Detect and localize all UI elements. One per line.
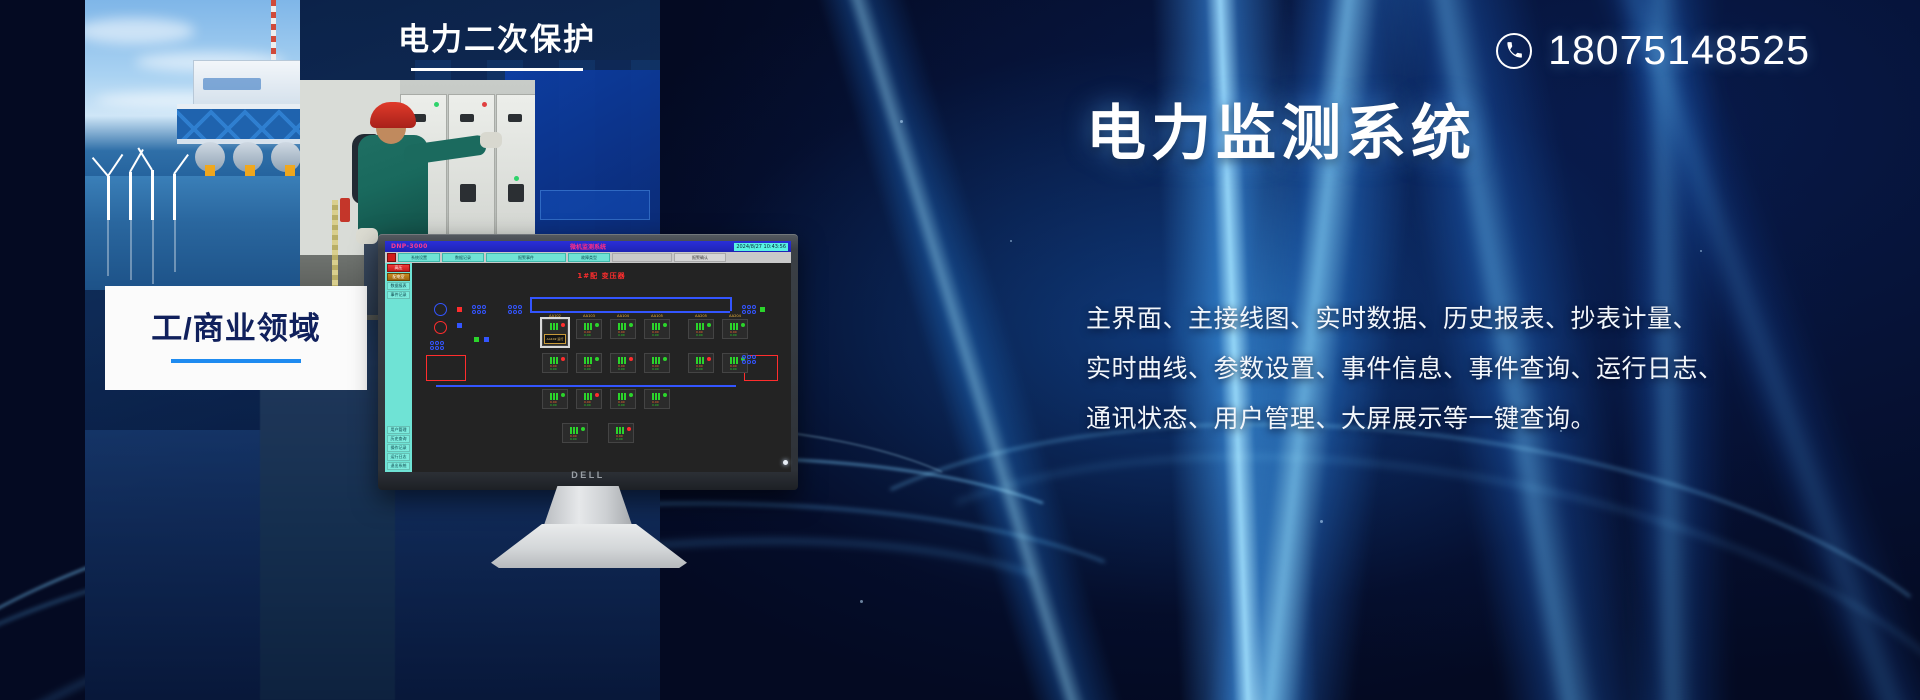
bay-cell-selected[interactable]: AA102 0.00 AA102 运行: [542, 319, 568, 346]
description-line-1: 主界面、主接线图、实时数据、历史报表、抄表计量、: [1086, 294, 1846, 344]
scada-toolbar-button[interactable]: 数据记录: [442, 253, 484, 262]
scada-titlebar: DNP-3000 微机监测系统 2024/8/27 10:43:56: [385, 241, 791, 252]
bay-cell[interactable]: AA204 0.000.00: [722, 319, 748, 339]
sidebar-item-distribution-room[interactable]: 配电室: [387, 273, 410, 281]
scada-system-title: 微机监测系统: [385, 242, 791, 251]
monitor-bezel: DNP-3000 微机监测系统 2024/8/27 10:43:56 系统设置 …: [378, 234, 798, 490]
bay-label: AA105: [645, 314, 669, 318]
bay-label: AA104: [611, 314, 635, 318]
bay-label: AA102: [543, 314, 567, 318]
ct-symbol: [742, 305, 756, 314]
bay-cell[interactable]: 0.000.00: [610, 353, 636, 373]
page-title: 电力监测系统: [1086, 104, 1476, 164]
scada-toolbar-button[interactable]: 系统设置: [398, 253, 440, 262]
bay-label: AA204: [723, 314, 747, 318]
bay-cell[interactable]: 0.000.00: [576, 353, 602, 373]
description-line-2: 实时曲线、参数设置、事件信息、事件查询、运行日志、: [1086, 344, 1846, 394]
bay-cell[interactable]: 0.000.00: [688, 353, 714, 373]
phone-circle-icon: [1496, 33, 1532, 69]
sidebar-item-event-log[interactable]: 事件记录: [387, 291, 410, 299]
bay-cell[interactable]: 0.000.00: [608, 423, 634, 443]
sidebar-item-data-report[interactable]: 数据报表: [387, 282, 410, 290]
bay-cell[interactable]: 0.000.00: [644, 389, 670, 409]
monitor-mockup: DNP-3000 微机监测系统 2024/8/27 10:43:56 系统设置 …: [378, 234, 798, 564]
monitor-power-led[interactable]: [783, 460, 788, 465]
transformer-symbol: [434, 303, 447, 316]
monitor-brand-logo: DELL: [378, 470, 798, 480]
industrial-commercial-card: 工/商业领域: [105, 286, 367, 390]
sidebar-item-user-management[interactable]: 用户管理: [387, 426, 410, 434]
scada-toolbar-button[interactable]: 报警事件: [486, 253, 566, 262]
bay-cell[interactable]: 0.000.00: [576, 389, 602, 409]
ct-symbol: [742, 355, 756, 364]
bay-label: AA205: [689, 314, 713, 318]
bay-tooltip: AA102 运行: [544, 334, 566, 344]
secondary-protection-text: 电力二次保护: [398, 24, 596, 55]
ct-symbol: [472, 305, 486, 314]
promo-banner: 电力二次保护 工/商业领域 DNP-3000 微机监测系统 2024/8/27 …: [0, 0, 1920, 700]
offshore-platform-photo: [85, 0, 300, 290]
scada-toolbar-spacer: [612, 253, 672, 262]
scada-toolbar-button[interactable]: 故障类型: [568, 253, 610, 262]
feeder-panel[interactable]: [426, 355, 466, 381]
bay-cell[interactable]: 0.000.00: [562, 423, 588, 443]
scada-toolbar[interactable]: 系统设置 数据记录 报警事件 故障类型 报警确认: [385, 252, 791, 263]
scada-sidebar-bottom-group[interactable]: 用户管理 历史查询 操作记录 运行日志 退出系统: [385, 425, 412, 471]
grounding-symbol: [430, 341, 444, 350]
sidebar-item-history-query[interactable]: 历史查询: [387, 435, 410, 443]
sidebar-item-operation-record[interactable]: 操作记录: [387, 444, 410, 452]
feature-description: 主界面、主接线图、实时数据、历史报表、抄表计量、 实时曲线、参数设置、事件信息、…: [1086, 294, 1846, 444]
monitor-stand-base: [491, 524, 687, 568]
bay-cell[interactable]: AA103 0.000.00: [576, 319, 602, 339]
sidebar-item-high-voltage[interactable]: 高压: [387, 264, 410, 272]
label-underline: [411, 68, 583, 71]
ct-symbol: [508, 305, 522, 314]
bay-cell[interactable]: AA205 0.000.00: [688, 319, 714, 339]
bay-label: AA103: [577, 314, 601, 318]
transformer-symbol: [434, 321, 447, 334]
diagram-title: 1#配 变压器: [412, 271, 791, 281]
scada-toolbar-button[interactable]: 报警确认: [674, 253, 726, 262]
scada-timestamp: 2024/8/27 10:43:56: [734, 243, 788, 251]
secondary-protection-label: 电力二次保护: [398, 24, 596, 71]
monitor-screen: DNP-3000 微机监测系统 2024/8/27 10:43:56 系统设置 …: [385, 241, 791, 472]
card-underline: [171, 359, 301, 363]
bay-cell[interactable]: 0.000.00: [542, 353, 568, 373]
scada-single-line-diagram[interactable]: 1#配 变压器: [412, 263, 791, 472]
bay-cell[interactable]: AA104 0.000.00: [610, 319, 636, 339]
phone-number: 18075148525: [1548, 30, 1810, 71]
bay-cell[interactable]: 0.000.00: [610, 389, 636, 409]
contact-phone[interactable]: 18075148525: [1496, 30, 1810, 71]
scada-sidebar[interactable]: 高压 配电室 数据报表 事件记录 用户管理 历史查询 操作记录 运行日志 退出系…: [385, 263, 412, 472]
description-line-3: 通讯状态、用户管理、大屏展示等一键查询。: [1086, 394, 1846, 444]
sidebar-item-exit[interactable]: 退出系统: [387, 462, 410, 470]
monitor-stand-neck: [543, 486, 633, 528]
bay-cell[interactable]: AA105 0.000.00: [644, 319, 670, 339]
scada-alarm-indicator[interactable]: [387, 253, 396, 262]
sidebar-item-run-log[interactable]: 运行日志: [387, 453, 410, 461]
scada-application: DNP-3000 微机监测系统 2024/8/27 10:43:56 系统设置 …: [385, 241, 791, 472]
industrial-commercial-text: 工/商业领域: [151, 313, 321, 344]
bay-cell[interactable]: 0.000.00: [542, 389, 568, 409]
bay-cell[interactable]: 0.000.00: [644, 353, 670, 373]
